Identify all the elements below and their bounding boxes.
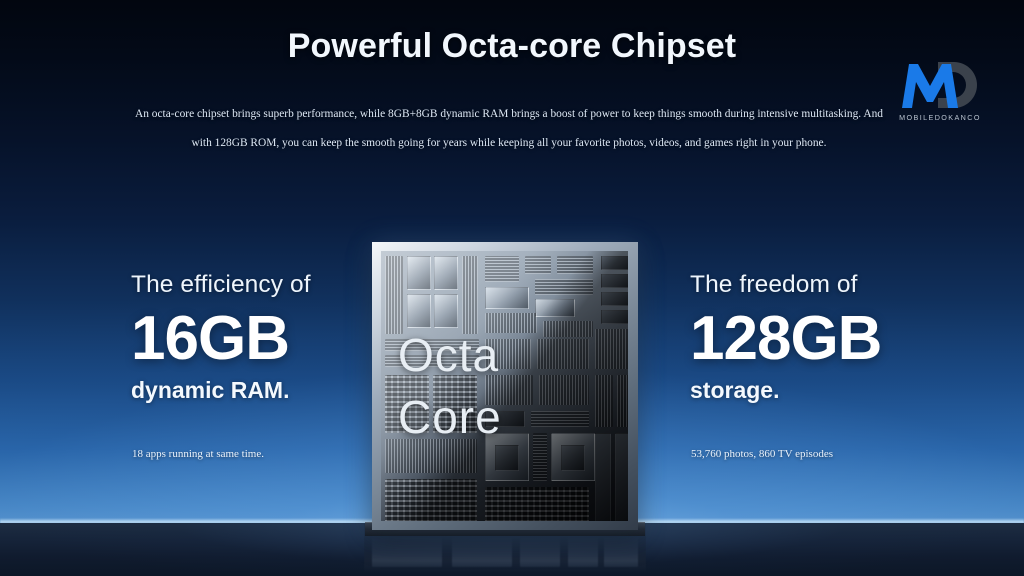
- chip-die: [381, 251, 628, 521]
- storage-value: 128GB: [690, 304, 950, 374]
- spec-column-ram: The efficiency of 16GB dynamic RAM. 18 a…: [131, 270, 381, 404]
- ram-value: 16GB: [131, 304, 381, 374]
- ram-lead-text: The efficiency of: [131, 270, 381, 300]
- chipset-graphic: Octa Core: [363, 235, 653, 535]
- chip-package: [372, 242, 638, 530]
- ram-note: 18 apps running at same time.: [132, 448, 264, 460]
- storage-subtitle: storage.: [690, 376, 950, 404]
- storage-lead-text: The freedom of: [690, 270, 950, 300]
- storage-note: 53,760 photos, 860 TV episodes: [691, 448, 833, 460]
- intro-paragraph: An octa-core chipset brings superb perfo…: [133, 100, 885, 158]
- page-title: Powerful Octa-core Chipset: [0, 27, 1024, 66]
- logo-md-icon: MOBILEDOKANCO: [892, 52, 988, 124]
- ram-subtitle: dynamic RAM.: [131, 376, 381, 404]
- promo-slide: Powerful Octa-core Chipset An octa-core …: [0, 0, 1024, 576]
- logo-wordmark: MOBILEDOKANCO: [899, 113, 981, 122]
- spec-column-storage: The freedom of 128GB storage. 53,760 pho…: [690, 270, 950, 404]
- brand-logo: MOBILEDOKANCO: [892, 52, 988, 124]
